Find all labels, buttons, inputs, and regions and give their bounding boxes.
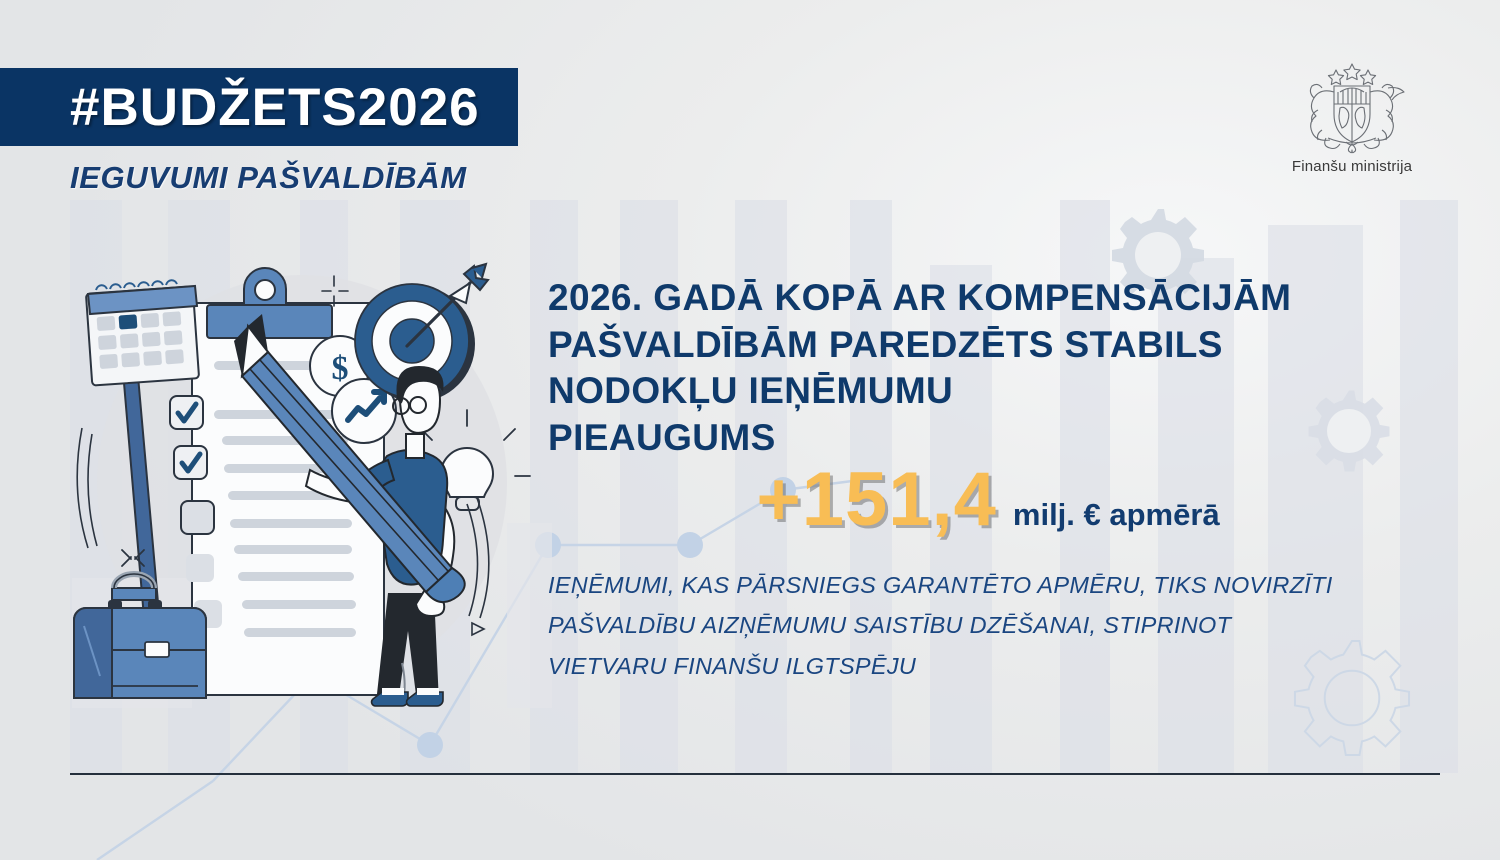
key-figure-unit: milj. € apmērā (1013, 499, 1220, 530)
infographic-canvas: $ (0, 0, 1500, 860)
hashtag-text: #BUDŽETS2026 (70, 81, 480, 134)
headline: 2026. GADĀ KOPĀ AR KOMPENSĀCIJĀM PAŠVALD… (548, 275, 1428, 461)
note-line: IEŅĒMUMI, KAS PĀRSNIEGS GARANTĒTO APMĒRU… (548, 565, 1448, 605)
key-figure-value: +151,4 (756, 462, 997, 538)
checkbox-empty (181, 501, 214, 534)
budget-planning-illustration: $ (52, 248, 552, 708)
checkbox-checked (170, 396, 203, 429)
svg-text:$: $ (332, 350, 349, 387)
note-paragraph: IEŅĒMUMI, KAS PĀRSNIEGS GARANTĒTO APMĒRU… (548, 565, 1448, 686)
page-subtitle: IEGUVUMI PAŠVALDĪBĀM (70, 160, 467, 196)
note-line: PAŠVALDĪBU AIZŅĒMUMU SAISTĪBU DZĒŠANAI, … (548, 605, 1448, 645)
headline-line: PAŠVALDĪBĀM PAREDZĒTS STABILS (548, 322, 1428, 369)
note-line: VIETVARU FINANŠU ILGTSPĒJU (548, 646, 1448, 686)
hashtag-banner: #BUDŽETS2026 (0, 68, 518, 146)
bottom-divider (70, 773, 1440, 775)
headline-line: 2026. GADĀ KOPĀ AR KOMPENSĀCIJĀM (548, 275, 1428, 322)
headline-line: NODOKĻU IEŅĒMUMU (548, 368, 1428, 415)
headline-line: PIEAUGUMS (548, 415, 1428, 462)
latvian-coat-of-arms-icon (1288, 58, 1416, 154)
key-figure: +151,4 milj. € apmērā (548, 462, 1428, 538)
checkbox-checked (174, 446, 207, 479)
ministry-name: Finanšu ministrija (1262, 158, 1442, 175)
ministry-logo: Finanšu ministrija (1262, 58, 1442, 175)
